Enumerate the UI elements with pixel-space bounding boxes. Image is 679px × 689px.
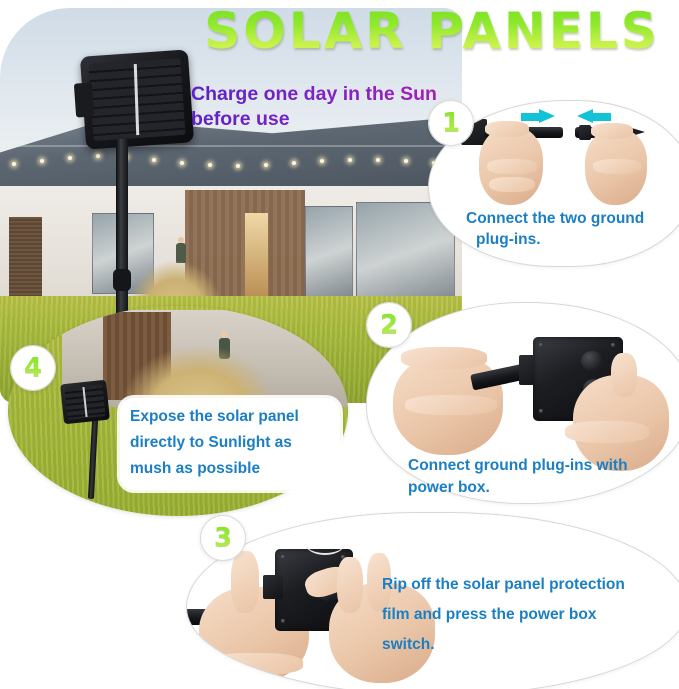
step-badge-2: 2	[366, 302, 412, 348]
step-3-line-2: film and press the power box	[382, 600, 662, 630]
arrow-right-icon	[521, 109, 555, 124]
step-badge-3: 3	[200, 515, 246, 561]
step-2-instruction: Connect ground plug-ins with power box.	[408, 455, 658, 499]
step-3-line-1: Rip off the solar panel protection	[382, 570, 662, 600]
right-index-finger	[591, 123, 633, 139]
left-finger	[231, 551, 259, 613]
light-bulb-icon	[12, 162, 16, 166]
step-4-instruction: Expose the solar panel directly to Sunli…	[120, 398, 340, 490]
step-2-line-1: Connect ground plug-ins with	[408, 455, 658, 477]
window-shutter	[9, 217, 41, 296]
power-box-button[interactable]	[581, 351, 603, 371]
headline-text: Charge one day in the Sun before use	[191, 83, 437, 130]
right-finger	[611, 353, 637, 397]
step-badge-4-number: 4	[24, 353, 42, 383]
arrow-head	[539, 109, 555, 123]
step-2-line-2: power box.	[408, 477, 658, 499]
left-finger	[207, 653, 303, 675]
left-finger	[489, 177, 535, 192]
step-1-instruction: Connect the two ground plug-ins.	[466, 208, 666, 250]
light-bulb-icon	[40, 159, 44, 163]
plug-collar	[263, 575, 283, 599]
page-title: SOLAR PANELS	[192, 4, 672, 58]
solar-panel-body	[80, 49, 194, 149]
arrow-shaft	[521, 113, 541, 121]
light-bulb-icon	[208, 163, 212, 167]
light-bulb-icon	[404, 159, 408, 163]
light-bulb-icon	[264, 163, 268, 167]
ground-stake-pole	[116, 139, 128, 323]
light-bulb-icon	[236, 164, 240, 168]
step-1-line-1: Connect the two ground	[466, 208, 666, 229]
light-bulb-icon	[68, 156, 72, 160]
step-badge-4: 4	[10, 345, 56, 391]
right-finger	[337, 557, 363, 613]
roof-string-lights	[0, 142, 462, 178]
power-box-wire	[305, 531, 345, 555]
arrow-left-icon	[577, 109, 611, 124]
foreground-solar-panel	[75, 53, 191, 323]
house-window	[305, 206, 353, 303]
house-door	[245, 213, 268, 300]
screw	[539, 343, 543, 347]
step-1-line-2: plug-ins.	[466, 229, 666, 250]
right-finger	[593, 159, 641, 174]
solar-panel-body	[60, 379, 110, 424]
step-badge-3-number: 3	[214, 523, 232, 553]
headline-charge-note: Charge one day in the Sun before use	[191, 82, 441, 132]
panel-bracket	[74, 82, 94, 117]
step-badge-1: 1	[428, 100, 474, 146]
screw	[539, 409, 543, 413]
right-finger	[565, 421, 649, 443]
left-finger	[487, 159, 537, 174]
step-4-line-1: Expose the solar panel	[130, 404, 330, 430]
screw	[281, 619, 285, 623]
arrow-shaft	[591, 113, 611, 121]
step-3-instruction: Rip off the solar panel protection film …	[382, 570, 662, 660]
light-bulb-icon	[348, 158, 352, 162]
screw	[281, 555, 285, 559]
pole-joint	[113, 269, 131, 291]
step-4-line-3: mush as possible	[130, 456, 330, 482]
step-4-line-2: directly to Sunlight as	[130, 430, 330, 456]
step-3-line-3: switch.	[382, 630, 662, 660]
arrow-head	[577, 109, 593, 123]
light-bulb-icon	[376, 158, 380, 162]
solar-panel-instruction-infographic: SOLAR PANELS Charge one day in the Sun b…	[0, 0, 679, 689]
step-badge-2-number: 2	[380, 310, 398, 340]
left-finger	[405, 395, 497, 415]
left-finger	[401, 347, 487, 369]
light-bulb-icon	[320, 159, 324, 163]
light-bulb-icon	[292, 161, 296, 165]
step-badge-1-number: 1	[442, 108, 460, 138]
ground-plug-collar	[579, 125, 591, 140]
screw	[611, 343, 615, 347]
person-head	[221, 331, 228, 338]
